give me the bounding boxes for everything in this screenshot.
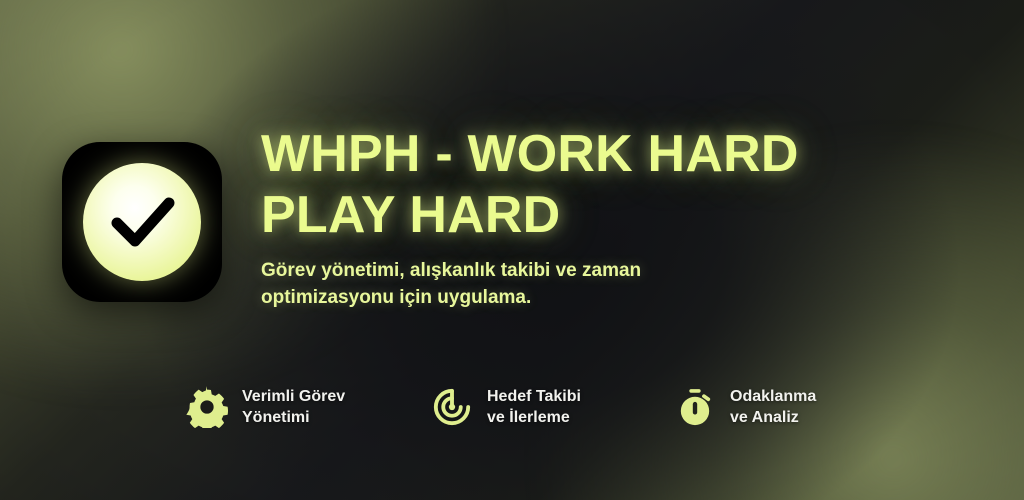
app-icon-tile (62, 142, 222, 302)
feature-label: Odaklanma ve Analiz (730, 386, 816, 429)
gear-icon (186, 386, 228, 428)
feature-label: Hedef Takibi ve İlerleme (487, 386, 581, 429)
app-icon (62, 142, 222, 302)
page-title: WHPH - WORK HARD PLAY HARD (261, 124, 881, 246)
stopwatch-icon (674, 386, 716, 428)
feature-item-focus-analysis: Odaklanma ve Analiz (674, 386, 906, 429)
feature-item-task-management: Verimli Görev Yönetimi (186, 386, 431, 429)
target-radar-icon (431, 386, 473, 428)
checkmark-icon (83, 163, 201, 281)
feature-item-goal-tracking: Hedef Takibi ve İlerleme (431, 386, 674, 429)
feature-list: Verimli Görev Yönetimi Hedef Takibi ve İ… (186, 386, 906, 429)
feature-label: Verimli Görev Yönetimi (242, 386, 345, 429)
page-subtitle: Görev yönetimi, alışkanlık takibi ve zam… (261, 258, 731, 312)
banner-content: WHPH - WORK HARD PLAY HARD Görev yönetim… (0, 0, 1024, 500)
app-promo-banner: WHPH - WORK HARD PLAY HARD Görev yönetim… (0, 0, 1024, 500)
